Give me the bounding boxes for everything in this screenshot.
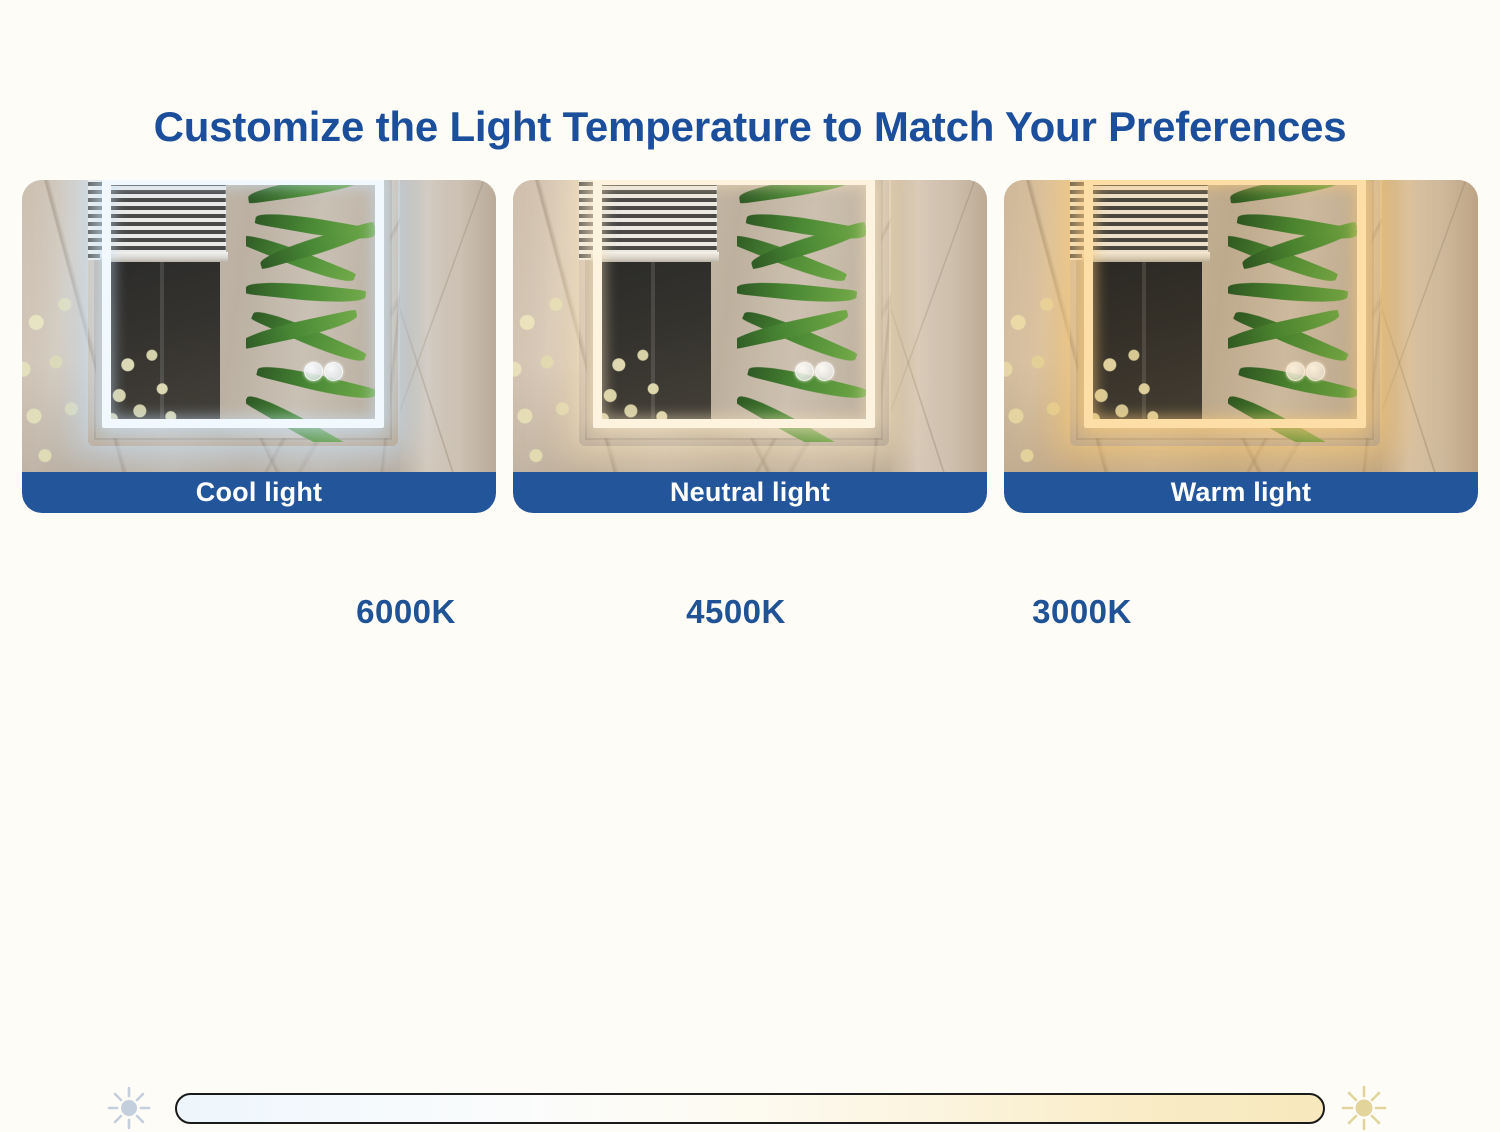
panel-caption-neutral: Neutral light — [513, 472, 987, 513]
panel-neutral-light[interactable]: Neutral light — [513, 180, 987, 513]
panel-neutral-photo — [513, 180, 987, 472]
page-title: Customize the Light Temperature to Match… — [0, 103, 1500, 151]
kelvin-label-6000k: 6000K — [316, 593, 496, 631]
marble-column — [1382, 180, 1478, 472]
panel-warm-light[interactable]: Warm light — [1004, 180, 1478, 513]
kelvin-label-3000k: 3000K — [992, 593, 1172, 631]
mirror-touch-button-power[interactable] — [795, 362, 814, 381]
led-light-frame — [102, 180, 384, 428]
mirror-touch-button-power[interactable] — [304, 362, 323, 381]
mirror-touch-button-defog[interactable] — [815, 362, 834, 381]
kelvin-label-4500k: 4500K — [646, 593, 826, 631]
warm-sun-icon — [1340, 1084, 1388, 1132]
temperature-gradient-track[interactable] — [175, 1093, 1325, 1124]
mirror-touch-button-power[interactable] — [1286, 362, 1305, 381]
promo-banner: Customize the Light Temperature to Match… — [0, 0, 1500, 650]
mirror-touch-button-defog[interactable] — [324, 362, 343, 381]
led-light-frame — [593, 180, 875, 428]
light-temperature-panel-row: Cool light — [22, 180, 1478, 513]
marble-column — [891, 180, 987, 472]
marble-column — [400, 180, 496, 472]
panel-warm-photo — [1004, 180, 1478, 472]
kelvin-tick-labels: 6000K 4500K 3000K — [0, 593, 1500, 637]
color-temperature-slider[interactable] — [0, 540, 1500, 592]
cool-sun-icon — [105, 1084, 153, 1132]
panel-cool-light[interactable]: Cool light — [22, 180, 496, 513]
led-light-frame — [1084, 180, 1366, 428]
panel-caption-warm: Warm light — [1004, 472, 1478, 513]
panel-caption-cool: Cool light — [22, 472, 496, 513]
panel-cool-photo — [22, 180, 496, 472]
mirror-touch-button-defog[interactable] — [1306, 362, 1325, 381]
